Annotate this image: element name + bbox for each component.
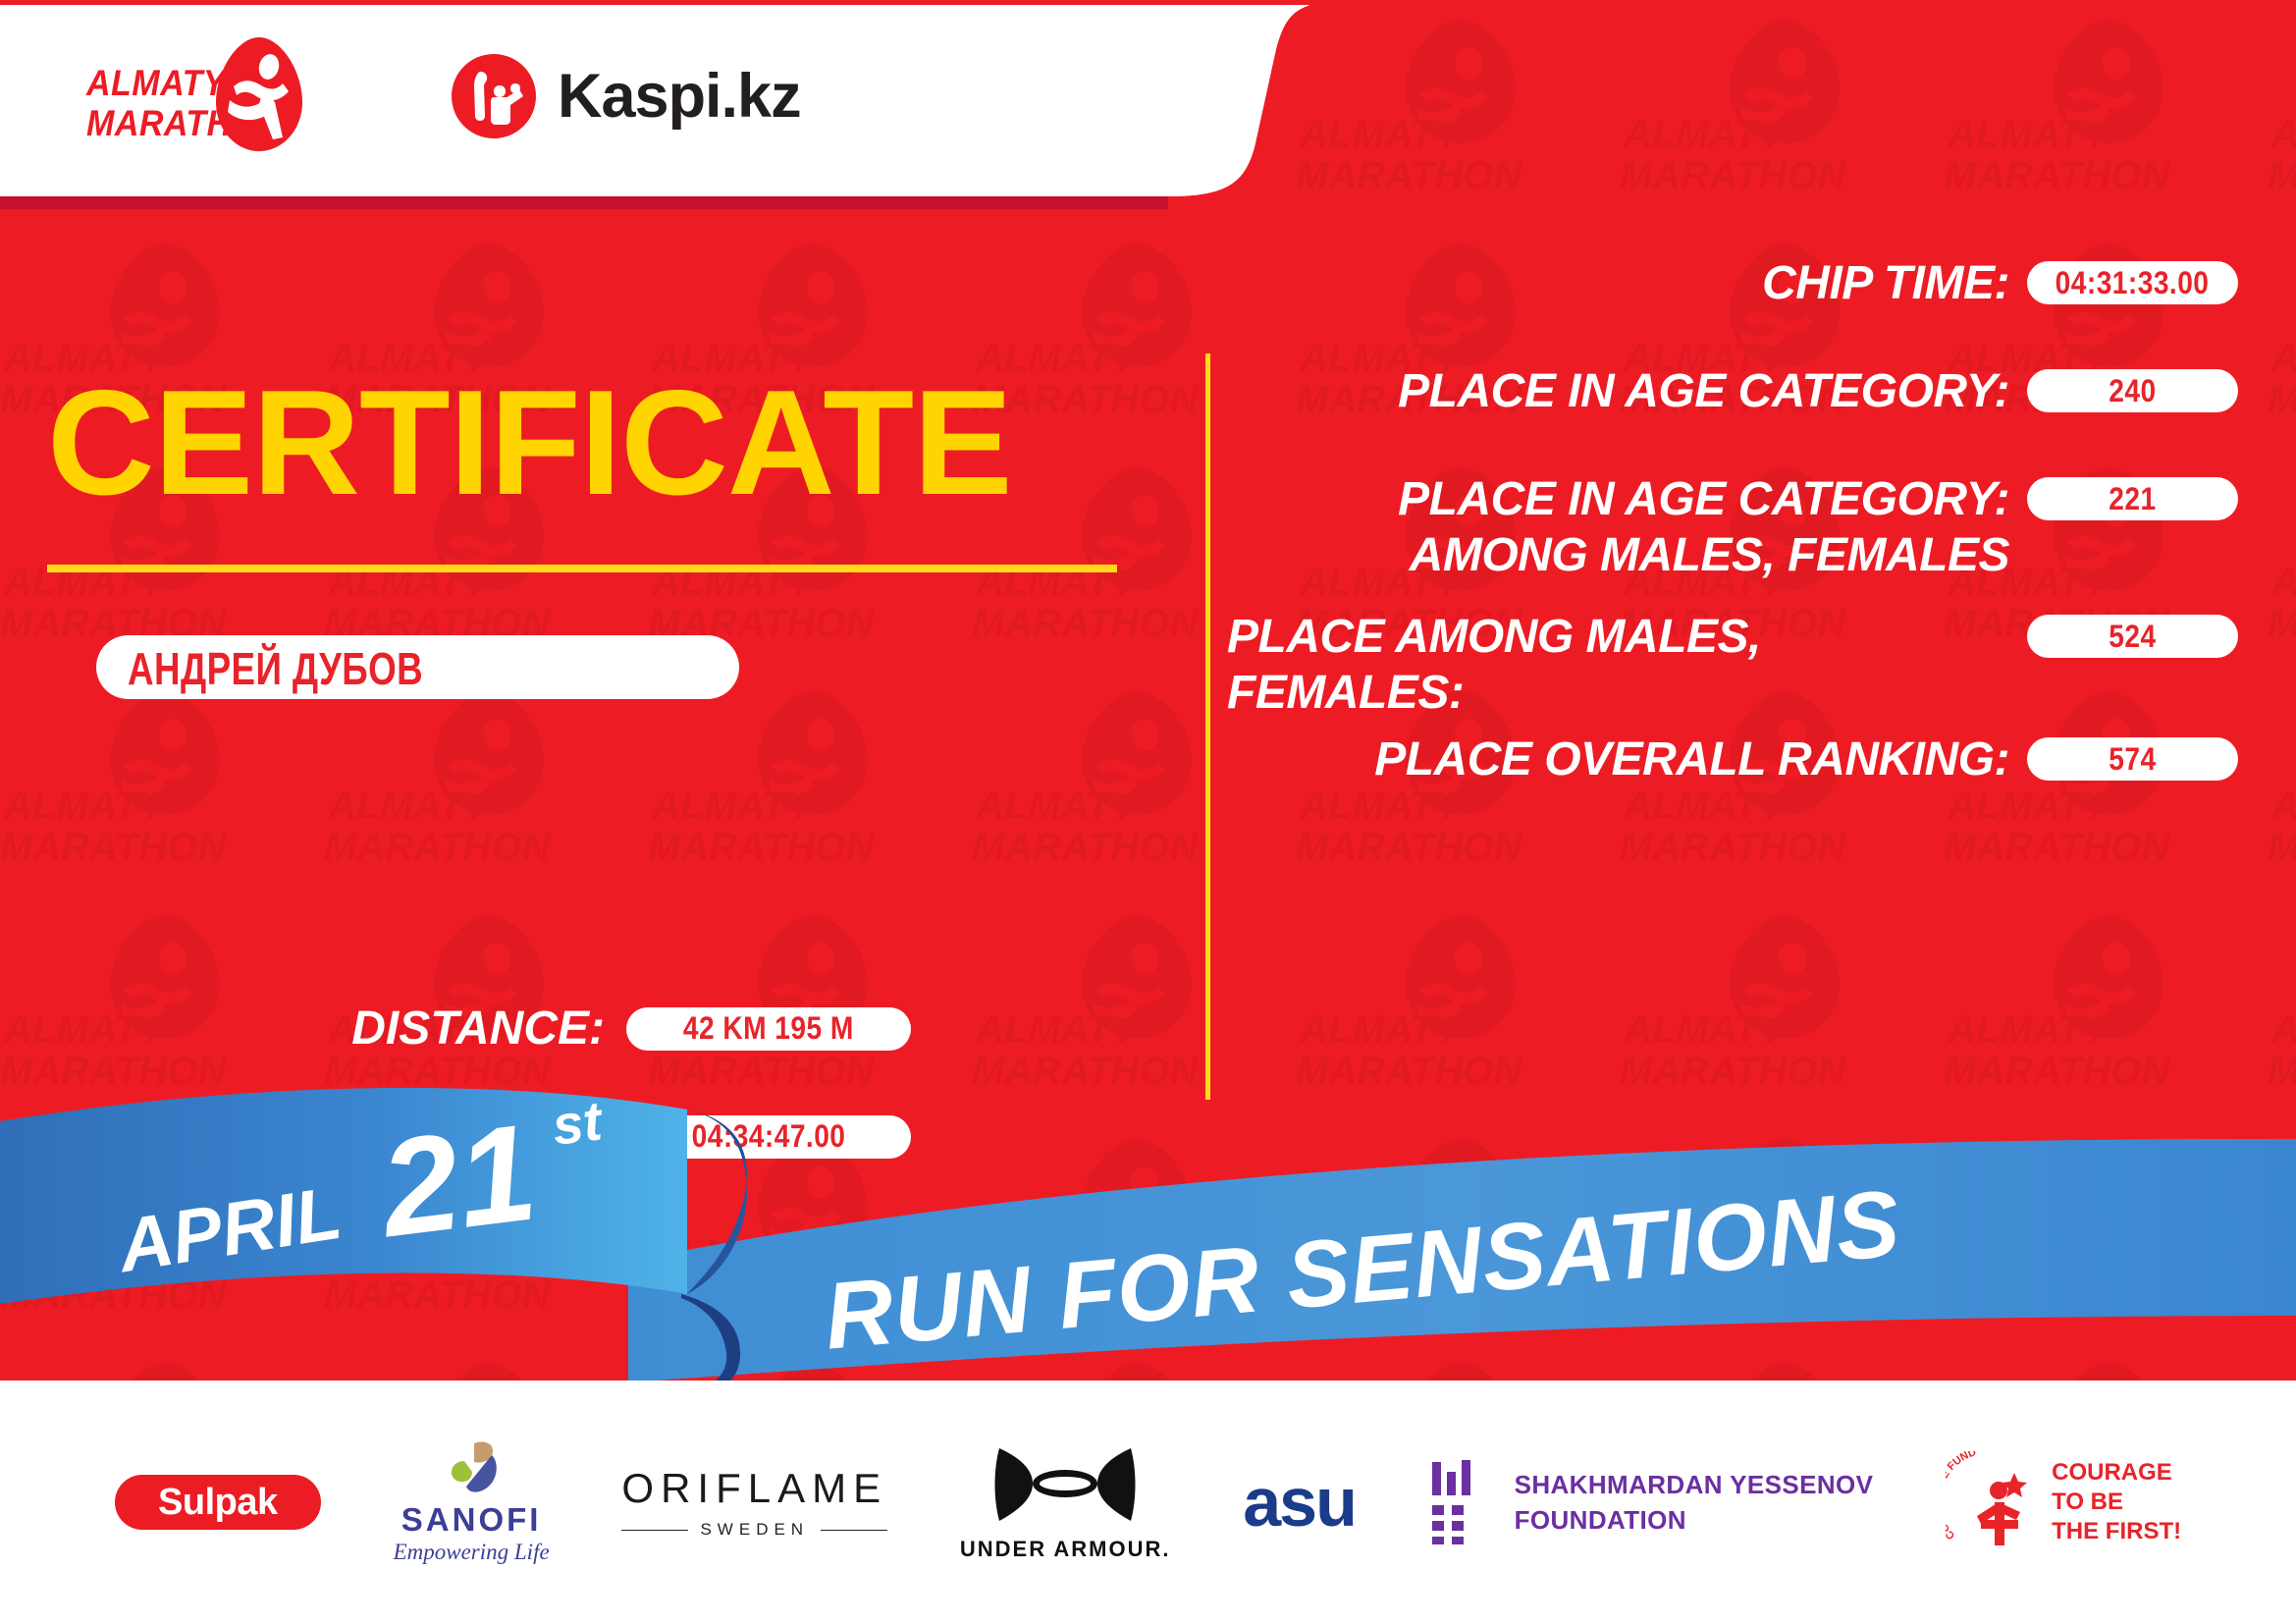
sulpak-label: Sulpak	[158, 1482, 278, 1524]
result-row-place-age-category-among: PLACE IN AGE CATEGORY: AMONG MALES, FEMA…	[1227, 471, 2238, 583]
distance-label: DISTANCE:	[271, 1001, 605, 1056]
sponsor-courage-fund: CORPORATE FUND COURAGE TO BE THE FIRST!	[1946, 1451, 2181, 1553]
header: ALMATY MARATHON Kaspi.kz	[0, 0, 1178, 196]
courage-ring-label: CORPORATE FUND	[1946, 1451, 1978, 1542]
ribbon-day: 21	[370, 1094, 544, 1266]
result-label: CHIP TIME:	[1227, 255, 2027, 311]
result-value: 240	[2109, 373, 2156, 409]
yessenov-label-line1: SHAKHMARDAN YESSENOV	[1515, 1470, 1874, 1499]
courage-label-line1: COURAGE	[2052, 1459, 2172, 1486]
sponsor-strip: Sulpak SANOFI Empowering Life ORIFLAME S…	[0, 1380, 2296, 1624]
sponsor-sanofi: SANOFI Empowering Life	[394, 1439, 550, 1565]
result-row-place-age-category: PLACE IN AGE CATEGORY: 240	[1227, 363, 2238, 419]
under-armour-label: UNDER ARMOUR.	[960, 1537, 1171, 1562]
result-value-pill: 524	[2027, 615, 2238, 658]
result-value-pill: 04:31:33.00	[2027, 261, 2238, 304]
courage-label-line3: THE FIRST!	[2052, 1518, 2181, 1544]
yessenov-label-line2: FOUNDATION	[1515, 1505, 1686, 1535]
result-value: 221	[2109, 481, 2156, 517]
participant-name: АНДРЕЙ ДУБОВ	[96, 642, 423, 695]
result-value-pill: 221	[2027, 477, 2238, 520]
sponsor-asu: asu	[1243, 1463, 1356, 1542]
oriflame-rule-right	[821, 1530, 887, 1531]
result-row-place-overall: PLACE OVERALL RANKING: 574	[1227, 731, 2238, 787]
sponsor-yessenov-foundation: SHAKHMARDAN YESSENOV FOUNDATION	[1428, 1460, 1874, 1544]
distance-value: 42 KM 195 M	[683, 1010, 854, 1047]
page-title: CERTIFICATE	[47, 368, 1012, 517]
result-value-pill: 240	[2027, 369, 2238, 412]
distance-value-pill: 42 KM 195 M	[626, 1007, 911, 1051]
running-person-drop-icon	[208, 35, 310, 153]
title-underline	[47, 565, 1117, 572]
sulpak-logo: Sulpak	[115, 1475, 321, 1530]
sponsor-sulpak: Sulpak	[115, 1475, 321, 1530]
sanofi-tagline: Empowering Life	[394, 1540, 550, 1565]
oriflame-sub: SWEDEN	[621, 1520, 887, 1540]
oriflame-label: ORIFLAME	[621, 1465, 887, 1512]
participant-name-pill: АНДРЕЙ ДУБОВ	[96, 635, 739, 699]
result-label: PLACE AMONG MALES, FEMALES:	[1227, 609, 2027, 721]
result-value: 524	[2109, 619, 2156, 655]
result-label: PLACE IN AGE CATEGORY:	[1227, 363, 2027, 419]
yessenov-label: SHAKHMARDAN YESSENOV FOUNDATION	[1515, 1467, 1874, 1538]
result-value-pill: 574	[2027, 737, 2238, 781]
result-label: PLACE OVERALL RANKING:	[1227, 731, 2027, 787]
certificate-page: ALMATY MARATHON ALMATY MARATHON	[0, 0, 2296, 1624]
result-value: 574	[2109, 741, 2156, 778]
sanofi-label: SANOFI	[401, 1501, 542, 1539]
sponsor-under-armour: UNDER ARMOUR.	[960, 1442, 1171, 1562]
result-row-place-among-gender: PLACE AMONG MALES, FEMALES: 524	[1227, 609, 2238, 721]
almaty-marathon-logo: ALMATY MARATHON	[86, 41, 381, 159]
kaspi-logo: Kaspi.kz	[452, 54, 801, 138]
ribbon-day-suffix: st	[549, 1089, 607, 1157]
kaspi-people-circle-icon	[452, 54, 536, 138]
sanofi-mark-icon	[429, 1439, 513, 1500]
result-label: PLACE IN AGE CATEGORY: AMONG MALES, FEMA…	[1227, 471, 2027, 583]
oriflame-tagline: SWEDEN	[700, 1520, 809, 1540]
courage-fund-mark-icon: CORPORATE FUND	[1946, 1451, 2040, 1553]
sponsor-oriflame: ORIFLAME SWEDEN	[621, 1465, 887, 1540]
column-divider	[1205, 353, 1210, 1100]
courage-label: COURAGE TO BE THE FIRST!	[2052, 1458, 2181, 1546]
svg-text:CORPORATE FUND: CORPORATE FUND	[1946, 1451, 1978, 1542]
result-value: 04:31:33.00	[2056, 265, 2210, 301]
yessenov-mark-icon	[1428, 1460, 1493, 1544]
kaspi-wordmark: Kaspi.kz	[558, 61, 801, 132]
under-armour-logo-icon	[991, 1442, 1139, 1529]
courage-label-line2: TO BE	[2052, 1489, 2123, 1515]
event-ribbon-banner: APRIL 21 st RUN FOR SENSATIONS	[0, 1070, 2296, 1394]
asu-label: asu	[1243, 1463, 1356, 1542]
result-row-chip-time: CHIP TIME: 04:31:33.00	[1227, 255, 2238, 311]
oriflame-rule-left	[621, 1530, 688, 1531]
distance-row: DISTANCE: 42 KM 195 M	[271, 1001, 911, 1056]
